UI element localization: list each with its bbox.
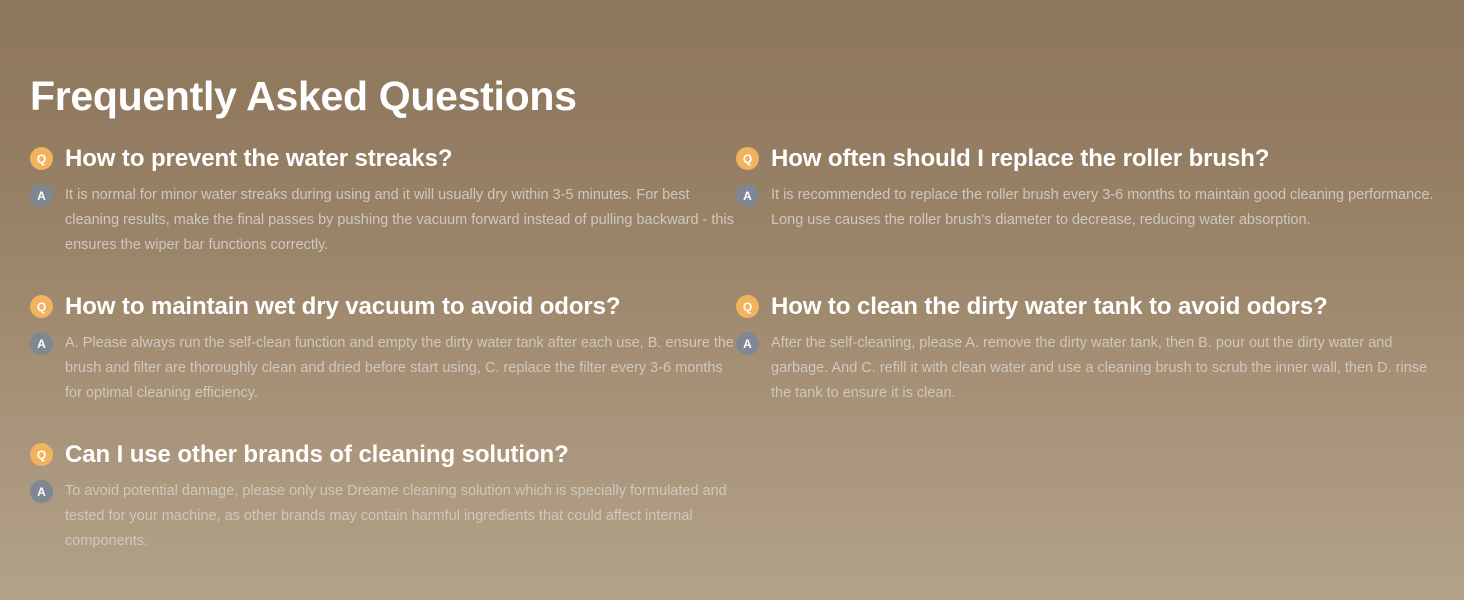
faq-item[interactable]: Q How to clean the dirty water tank to a… <box>736 291 1434 406</box>
answer-badge-icon: A <box>30 184 53 207</box>
faq-item[interactable]: Q How to prevent the water streaks? A It… <box>30 143 736 258</box>
faq-section: Frequently Asked Questions Q How to prev… <box>0 0 1464 600</box>
faq-list: Q How to prevent the water streaks? A It… <box>30 143 1434 554</box>
faq-question-text: Can I use other brands of cleaning solut… <box>65 439 569 470</box>
faq-answer-row: A It is normal for minor water streaks d… <box>30 183 736 258</box>
question-badge-icon: Q <box>30 295 53 318</box>
faq-question-row[interactable]: Q How to maintain wet dry vacuum to avoi… <box>30 291 736 322</box>
faq-item[interactable]: Q How to maintain wet dry vacuum to avoi… <box>30 291 736 406</box>
faq-answer-row: A It is recommended to replace the rolle… <box>736 183 1434 233</box>
question-badge-icon: Q <box>30 147 53 170</box>
faq-question-text: How to prevent the water streaks? <box>65 143 452 174</box>
faq-question-text: How often should I replace the roller br… <box>771 143 1269 174</box>
faq-answer-text: It is normal for minor water streaks dur… <box>65 183 736 258</box>
question-badge-icon: Q <box>30 443 53 466</box>
faq-question-row[interactable]: Q How often should I replace the roller … <box>736 143 1434 174</box>
answer-badge-icon: A <box>30 480 53 503</box>
faq-question-row[interactable]: Q How to prevent the water streaks? <box>30 143 736 174</box>
question-badge-icon: Q <box>736 295 759 318</box>
answer-badge-icon: A <box>736 332 759 355</box>
faq-answer-text: To avoid potential damage, please only u… <box>65 479 736 554</box>
faq-item[interactable]: Q How often should I replace the roller … <box>736 143 1434 258</box>
faq-question-row[interactable]: Q How to clean the dirty water tank to a… <box>736 291 1434 322</box>
faq-answer-row: A A. Please always run the self-clean fu… <box>30 331 736 406</box>
faq-item[interactable]: Q Can I use other brands of cleaning sol… <box>30 439 736 554</box>
answer-badge-icon: A <box>736 184 759 207</box>
faq-answer-row: A After the self-cleaning, please A. rem… <box>736 331 1434 406</box>
question-badge-icon: Q <box>736 147 759 170</box>
faq-question-row[interactable]: Q Can I use other brands of cleaning sol… <box>30 439 736 470</box>
faq-answer-text: It is recommended to replace the roller … <box>771 183 1434 233</box>
answer-badge-icon: A <box>30 332 53 355</box>
faq-question-text: How to clean the dirty water tank to avo… <box>771 291 1328 322</box>
faq-answer-row: A To avoid potential damage, please only… <box>30 479 736 554</box>
page-title: Frequently Asked Questions <box>30 70 577 122</box>
faq-answer-text: After the self-cleaning, please A. remov… <box>771 331 1434 406</box>
faq-question-text: How to maintain wet dry vacuum to avoid … <box>65 291 620 322</box>
faq-answer-text: A. Please always run the self-clean func… <box>65 331 736 406</box>
